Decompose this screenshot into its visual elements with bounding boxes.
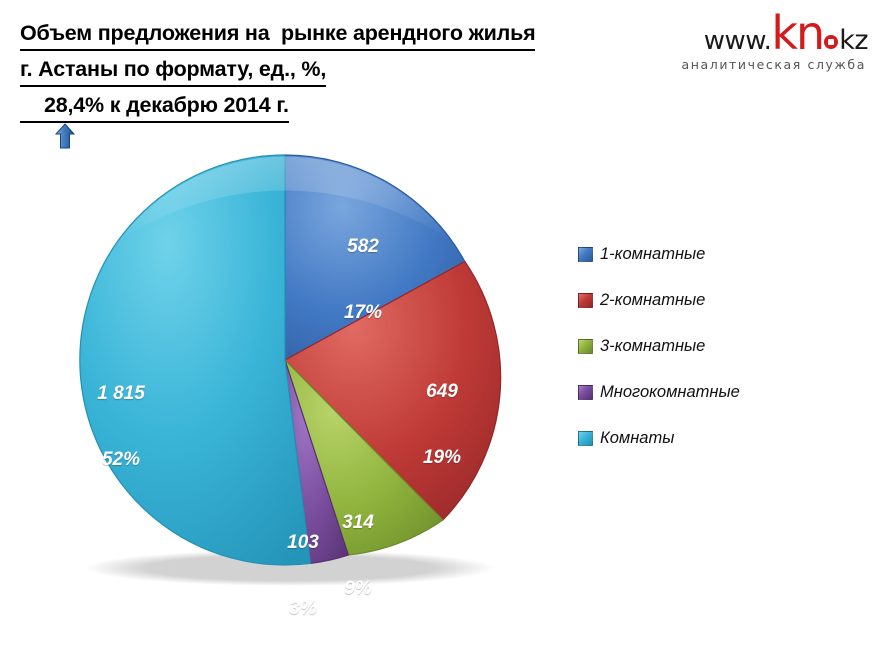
legend-label: 3-комнатные — [600, 337, 705, 356]
legend-swatch-icon — [578, 385, 593, 400]
pie-chart-svg — [0, 130, 560, 591]
logo-subtitle: аналитическая служба — [670, 57, 868, 72]
logo-kz-text: kz — [839, 25, 868, 56]
legend-label: Многокомнатные — [600, 383, 740, 402]
title-line-1: Объем предложения на рынке арендного жил… — [20, 18, 535, 51]
title-line-2: г. Астаны по формату, ед., %, — [20, 54, 326, 87]
legend-item-1-komnatnye[interactable]: 1-комнатные — [578, 243, 740, 265]
legend-item-3-komnatnye[interactable]: 3-комнатные — [578, 335, 740, 357]
legend-item-komnaty[interactable]: Комнаты — [578, 427, 740, 449]
logo-wordmark: www.knkz — [670, 10, 868, 56]
legend-swatch-icon — [578, 247, 593, 262]
pie-chart: 582 17% 649 19% 314 9% 103 3% 1 815 52% — [0, 130, 560, 591]
legend-swatch-icon — [578, 339, 593, 354]
legend-item-2-komnatnye[interactable]: 2-комнатные — [578, 289, 740, 311]
kn-kz-logo: www.knkz аналитическая служба — [670, 10, 868, 76]
legend-item-mnogokomnatnye[interactable]: Многокомнатные — [578, 381, 740, 403]
pie-slice-komnaty[interactable] — [80, 155, 311, 565]
chart-legend: 1-комнатные 2-комнатные 3-комнатные Мног… — [578, 243, 740, 473]
legend-swatch-icon — [578, 293, 593, 308]
legend-label: 2-комнатные — [600, 291, 705, 310]
title-line-3-text: 28,4% к декабрю 2014 г. — [44, 90, 289, 120]
legend-label: 1-комнатные — [600, 245, 705, 264]
page-title: Объем предложения на рынке арендного жил… — [20, 18, 660, 126]
logo-www-text: www. — [704, 26, 772, 56]
arrow-up-icon — [20, 93, 40, 119]
logo-kn-text: kn — [771, 6, 823, 60]
legend-label: Комнаты — [600, 429, 674, 448]
logo-dot-icon — [824, 35, 838, 49]
title-line-3-wrapper: 28,4% к декабрю 2014 г. — [20, 90, 289, 123]
legend-swatch-icon — [578, 431, 593, 446]
